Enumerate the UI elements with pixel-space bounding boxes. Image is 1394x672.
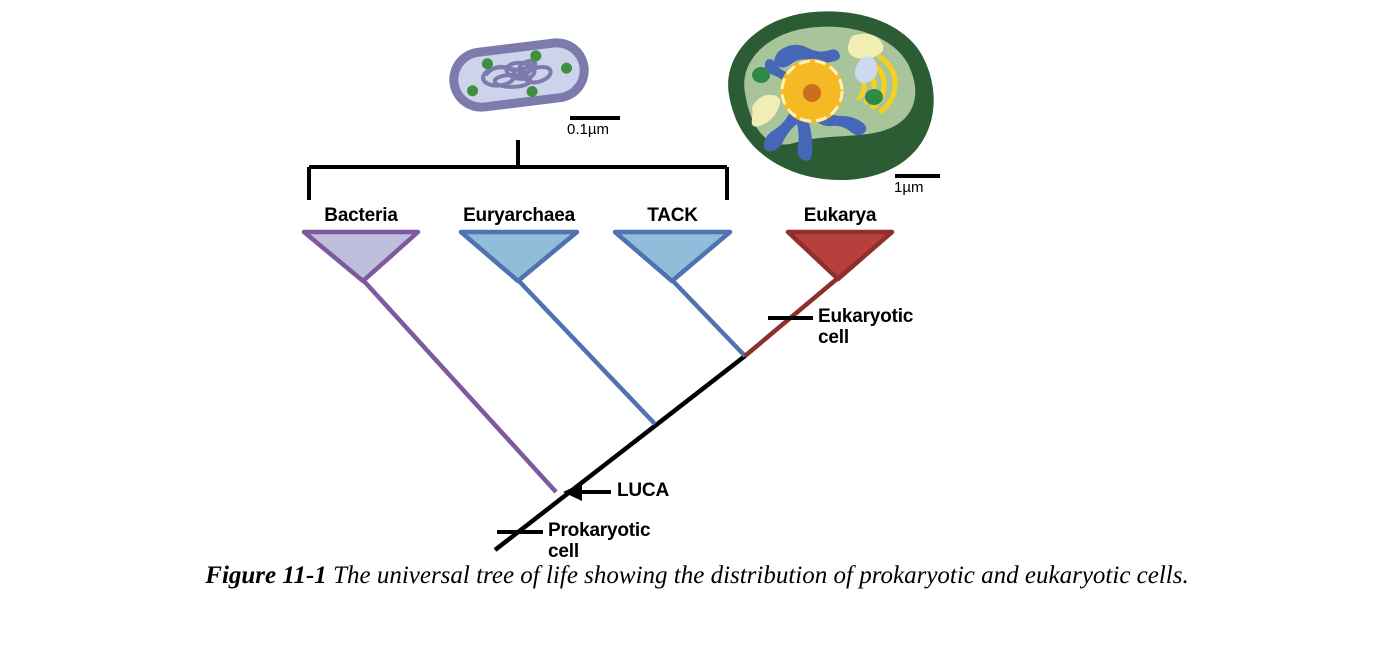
prokaryotic-cell-illustration [446,35,620,118]
branch-tack [672,280,745,356]
branch-euryarchaea [518,280,655,424]
prokaryote-bracket [309,140,727,200]
figure-number: Figure 11-1 [205,562,327,589]
scale-label-eukaryote: 1µm [894,179,923,196]
clade-label-euryarchaea: Euryarchaea [451,205,587,227]
luca-arrow [563,483,611,501]
clade-triangle-euryarchaea[interactable] [461,232,577,281]
figure-container: Bacteria Euryarchaea TACK Eukarya Eukary… [0,0,1394,672]
annotation-prokaryotic-cell: Prokaryotic cell [548,521,650,562]
figure-caption-text: The universal tree of life showing the d… [333,562,1189,589]
clade-triangle-bacteria[interactable] [304,232,418,281]
eukaryotic-cell-illustration [728,11,940,180]
clade-triangle-eukarya[interactable] [788,232,892,279]
eukaryote-nucleolus [803,84,821,102]
figure-caption: Figure 11-1 The universal tree of life s… [0,560,1394,592]
clade-label-tack: TACK [615,205,730,227]
annotation-luca: LUCA [617,481,669,502]
scale-label-prokaryote: 0.1µm [567,121,609,138]
clade-triangle-tack[interactable] [615,232,730,281]
clade-label-bacteria: Bacteria [304,205,418,227]
clade-label-eukarya: Eukarya [785,205,895,227]
annotation-eukaryotic-cell: Eukaryotic cell [818,307,913,348]
branch-bacteria [363,280,556,492]
